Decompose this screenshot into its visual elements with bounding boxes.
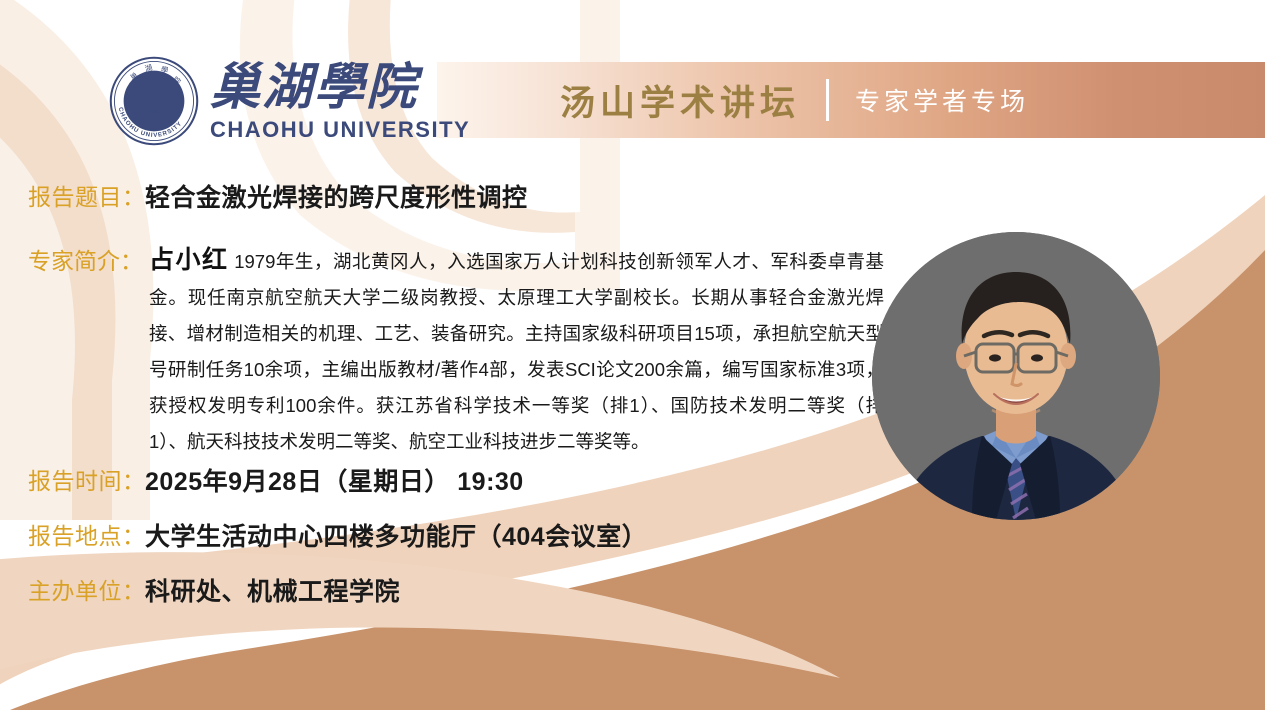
svg-text:1977: 1977: [149, 109, 160, 114]
banner-text: 汤山学术讲坛 专家学者专场: [560, 62, 1029, 138]
report-title-colon: ：: [122, 178, 145, 212]
logo-chinese-name: 巢湖學院: [210, 59, 470, 115]
logo-english-name: CHAOHU UNIVERSITY: [210, 117, 470, 143]
report-host-label: 主办单位: [28, 572, 122, 606]
banner-subtitle: 专家学者专场: [855, 82, 1029, 118]
banner-divider: [826, 79, 829, 121]
report-place-colon: ：: [122, 517, 145, 551]
report-time-value: 2025年9月28日（星期日） 19:30: [145, 462, 524, 498]
speaker-portrait: [872, 232, 1160, 520]
report-title-label: 报告题目: [28, 178, 122, 212]
report-place-label: 报告地点: [28, 517, 122, 551]
report-host-row: 主办单位 ： 科研处、机械工程学院: [28, 572, 400, 608]
speaker-bio-row: 专家简介： 占小红 1979年生，湖北黄冈人，入选国家万人计划科技创新领军人才、…: [28, 242, 888, 460]
wave-left-sliver: [0, 552, 840, 678]
logo-wordmark: 巢湖學院 CHAOHU UNIVERSITY: [210, 59, 470, 143]
report-place-value: 大学生活动中心四楼多功能厅（404会议室）: [145, 517, 647, 553]
wave-dark-fill: [470, 600, 1265, 710]
report-title-row: 报告题目 ： 轻合金激光焊接的跨尺度形性调控: [28, 178, 528, 214]
speaker-bio-colon: ：: [120, 248, 143, 274]
speaker-bio-label-text: 专家简介: [28, 248, 120, 274]
report-host-value: 科研处、机械工程学院: [145, 572, 400, 608]
speaker-portrait-illustration: [872, 232, 1160, 520]
speaker-name: 占小红: [149, 246, 229, 274]
seminar-poster: 汤山学术讲坛 专家学者专场 1977 CHAOHU UNIVERSITY: [0, 0, 1265, 710]
report-time-colon: ：: [122, 462, 145, 496]
banner-main-title: 汤山学术讲坛: [560, 75, 800, 126]
university-emblem-icon: 1977 CHAOHU UNIVERSITY 巢 湖 學 院: [108, 55, 200, 147]
report-title-value: 轻合金激光焊接的跨尺度形性调控: [145, 178, 528, 214]
speaker-bio-body: 占小红 1979年生，湖北黄冈人，入选国家万人计划科技创新领军人才、军科委卓青基…: [149, 242, 884, 460]
report-time-label: 报告时间: [28, 462, 122, 496]
university-logo: 1977 CHAOHU UNIVERSITY 巢 湖 學 院 巢湖學院 CHAO…: [108, 55, 470, 147]
speaker-bio-label: 专家简介：: [28, 242, 143, 276]
report-place-row: 报告地点 ： 大学生活动中心四楼多功能厅（404会议室）: [28, 517, 647, 553]
speaker-bio-text: 1979年生，湖北黄冈人，入选国家万人计划科技创新领军人才、军科委卓青基金。现任…: [149, 251, 884, 452]
report-host-colon: ：: [122, 572, 145, 606]
poster-header: 汤山学术讲坛 专家学者专场 1977 CHAOHU UNIVERSITY: [0, 0, 1265, 160]
report-time-row: 报告时间 ： 2025年9月28日（星期日） 19:30: [28, 462, 524, 498]
svg-text:學: 學: [160, 65, 169, 75]
